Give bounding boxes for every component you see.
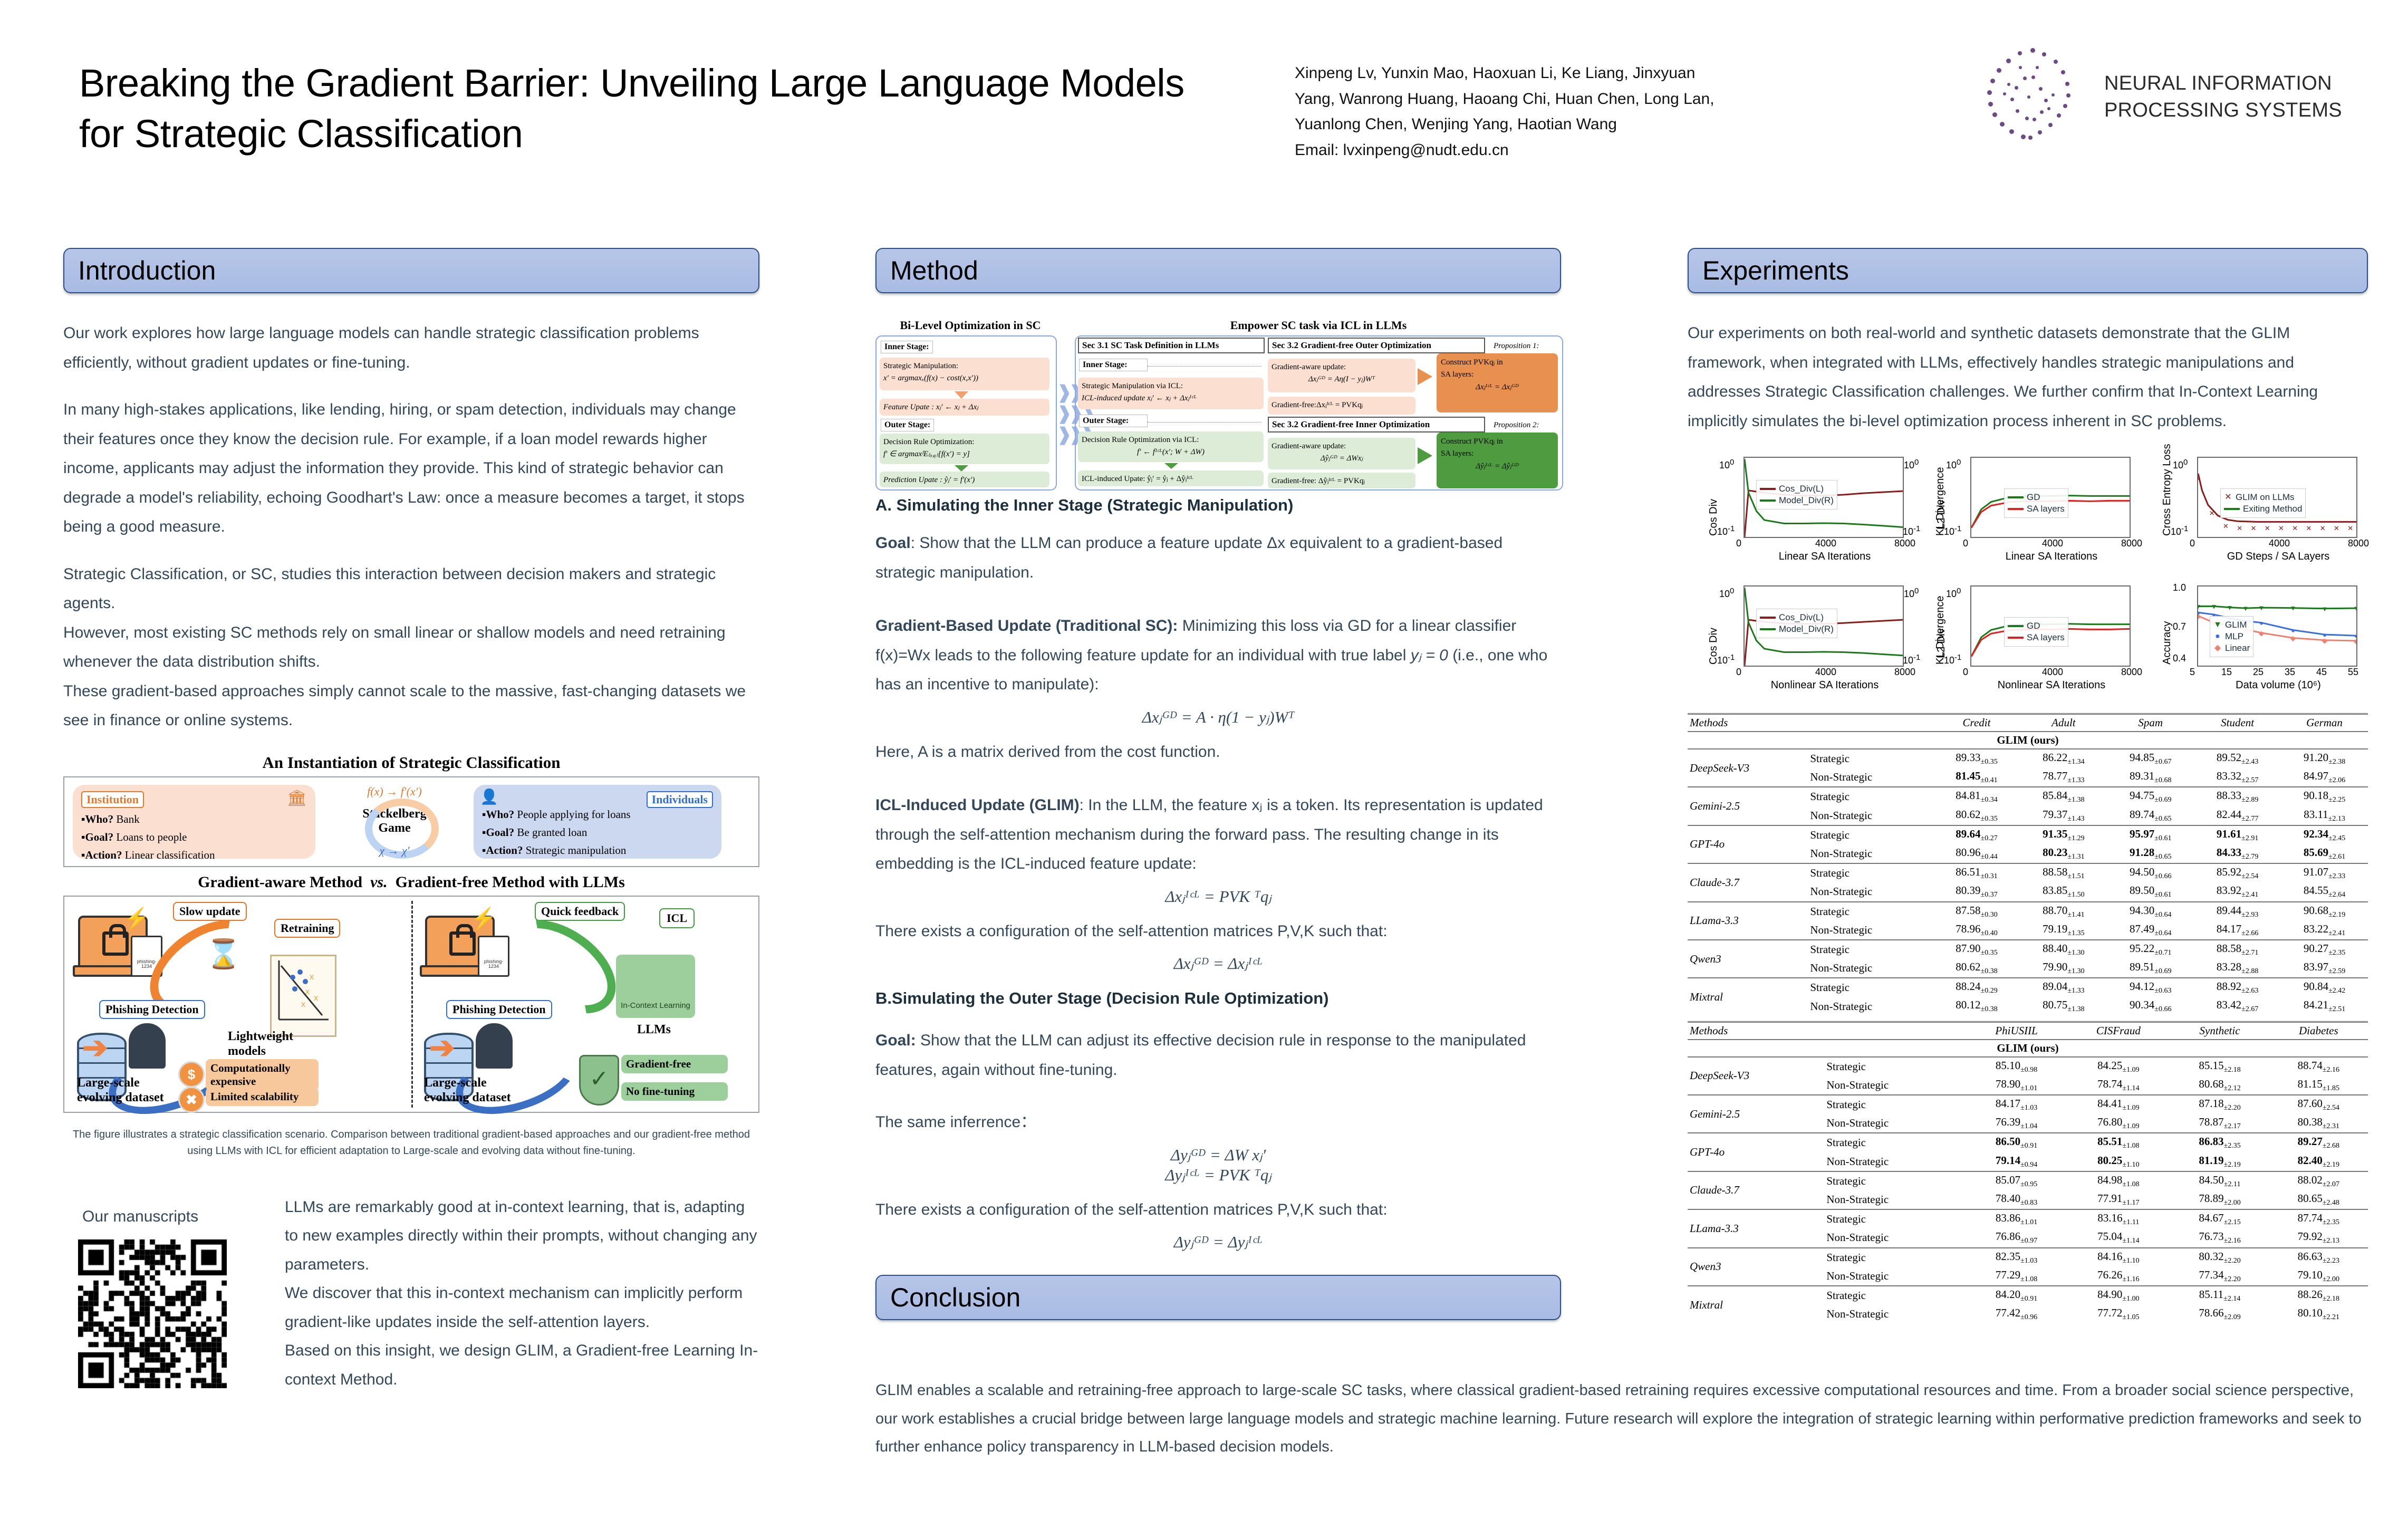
method-a-gradient-based: Gradient-Based Update (Traditional SC): …	[875, 611, 1561, 699]
chart-1-xtick: 0	[1736, 538, 1741, 549]
table-model-name: Claude-3.7	[1688, 863, 1808, 901]
proposition-1-label: Proposition 1:	[1494, 342, 1539, 351]
table-cell: 94.12±0.63	[2107, 978, 2194, 997]
dataset-label-right: Large-scale evolving dataset	[419, 1074, 524, 1108]
lightweight-models-label: Lightweight models	[223, 1027, 317, 1061]
svg-text:✕: ✕	[2237, 524, 2242, 532]
table-cell: 89.44±2.93	[2194, 902, 2281, 921]
phishing-file-right: phishing-1234	[478, 936, 509, 977]
table-cell: 80.96±0.44	[1933, 844, 2020, 863]
retraining-label: Retraining	[274, 919, 340, 938]
table-cell: 89.51±0.69	[2107, 959, 2194, 978]
table-row: DeepSeek-V3Strategic85.10±0.9884.25±1.09…	[1688, 1057, 2368, 1076]
svg-text:▼: ▼	[2322, 605, 2328, 613]
table-row-label: Non-Strategic	[1824, 1228, 1966, 1247]
table-header-cell: Spam	[2107, 714, 2194, 732]
table-cell: 95.97±0.61	[2107, 825, 2194, 844]
authors-line-1: Xinpeng Lv, Yunxin Mao, Haoxuan Li, Ke L…	[1295, 61, 1848, 86]
growth-arrow-right: ➔	[429, 1030, 455, 1065]
table-row-label: Non-Strategic	[1824, 1305, 1966, 1323]
table-cell: 89.27±2.68	[2269, 1133, 2368, 1152]
table-cell: 85.07±0.95	[1967, 1171, 2067, 1190]
table-cell: 84.41±1.09	[2066, 1095, 2170, 1114]
table-model-name: Mixtral	[1688, 1286, 1824, 1323]
table-cell: 84.90±1.00	[2066, 1286, 2170, 1305]
table-model-name: Gemini-2.5	[1688, 787, 1808, 825]
chart-4-xlabel: Nonlinear SA Iterations	[1730, 679, 1920, 691]
chart-2-legend-item: GD	[2008, 492, 2065, 503]
table-cell: 84.21±2.51	[2281, 997, 2368, 1015]
table-row: LLama-3.3Strategic83.86±1.0183.16±1.1184…	[1688, 1209, 2368, 1228]
table-cell: 83.32±2.57	[2194, 768, 2281, 787]
svg-text:◆: ◆	[2198, 612, 2201, 620]
table-header-cell: German	[2281, 714, 2368, 732]
results-table-2: MethodsPhiUSIILCISFraudSyntheticDiabetes…	[1688, 1021, 2368, 1324]
chart-4-xtick: 4000	[1815, 667, 1836, 678]
table-cell: 77.29±1.08	[1967, 1267, 2067, 1286]
chart-3-legend-item: Exiting Method	[2224, 504, 2302, 514]
dash-connector-2	[1148, 422, 1261, 422]
figure-title: An Instantiation of Strategic Classifica…	[63, 753, 759, 772]
equation-gd-update: Δxⱼᴳᴰ = A · η(1 − yⱼ)Wᵀ	[875, 708, 1561, 727]
table-cell: 79.92±2.13	[2269, 1228, 2368, 1247]
individuals-row-1: ▪Who? People applying for loans	[482, 808, 713, 821]
figure-panel-a: Institution 🏛 ▪Who? Bank ▪Goal? Loans to…	[63, 776, 759, 867]
institution-row-1: ▪Who? Bank	[81, 813, 307, 826]
chart-1-xlabel: Linear SA Iterations	[1730, 551, 1920, 563]
table-cell: 77.72±1.05	[2066, 1305, 2170, 1323]
growth-arrow-left: ➔	[82, 1030, 108, 1065]
chart-6-xlabel: Data volume (10⁶)	[2183, 679, 2373, 691]
cycle-bottom-equation: χ → χ′	[321, 844, 468, 858]
diagram-left-title: Bi-Level Optimization in SC	[875, 319, 1065, 332]
chart-3-xtick: 8000	[2348, 538, 2369, 549]
table-row-label: Non-Strategic	[1808, 921, 1933, 940]
person-head-icon: 👤	[480, 788, 498, 806]
table-row-label: Strategic	[1824, 1209, 1966, 1228]
table-cell: 80.62±0.35	[1933, 806, 2020, 825]
dataset-label-left: Large-scale evolving dataset	[72, 1074, 177, 1108]
chart-6-xtick: 15	[2221, 667, 2232, 678]
equation-equal-x: Δxⱼᴳᴰ = Δxⱼᴵᶜᴸ	[875, 954, 1561, 973]
table-cell: 90.27±2.35	[2281, 940, 2368, 959]
chart-2-legend: GDSA layers	[2004, 488, 2068, 518]
chart-6-ylabel: Accuracy	[2161, 621, 2173, 665]
table-cell: 89.52±2.43	[2194, 749, 2281, 768]
table-cell: 91.35±1.29	[2020, 825, 2107, 844]
table-cell: 80.32±2.20	[2170, 1248, 2269, 1267]
equation-equal-y: Δyⱼᴳᴰ = Δyⱼᴵᶜᴸ	[875, 1233, 1561, 1252]
bolt-icon-right: ⚡	[470, 906, 497, 931]
table-cell: 80.65±2.48	[2269, 1190, 2368, 1209]
table-cell: 91.20±2.38	[2281, 749, 2368, 768]
chart-5: KL Divergence 10010-1040008000Nonlinear …	[1925, 577, 2136, 704]
table-cell: 87.90±0.35	[1933, 940, 2020, 959]
inner-gradient-aware-box: Gradient-aware update: Δŷⱼᴳᴰ = ΔWxⱼ	[1268, 438, 1415, 469]
table-row-label: Strategic	[1808, 978, 1933, 997]
table-row-label: Strategic	[1808, 863, 1933, 882]
chart-2-xtick: 0	[1963, 538, 1968, 549]
table-cell: 88.24±0.29	[1933, 978, 2020, 997]
table-header-cell: Synthetic	[2170, 1022, 2269, 1040]
table-cell: 87.60±2.54	[2269, 1095, 2368, 1114]
gradient-based-math: yⱼ = 0	[1411, 647, 1448, 664]
table-cell: 82.44±2.77	[2194, 806, 2281, 825]
table-cell: 85.51±1.08	[2066, 1133, 2170, 1152]
cycle-top-equation: f(x) → f′(x′)	[321, 785, 468, 799]
method-b-exists: There exists a configuration of the self…	[875, 1195, 1561, 1225]
quick-feedback-label: Quick feedback	[535, 902, 625, 921]
chart-4-legend: Cos_Div(L)Model_Div(R)	[1756, 609, 1837, 638]
cost-chip-2: Limited scalability	[206, 1088, 319, 1106]
table-cell: 88.92±2.63	[2194, 978, 2281, 997]
table-model-name: Qwen3	[1688, 1248, 1824, 1286]
section-title-introduction: Introduction	[78, 255, 216, 286]
neurips-dots-icon	[1972, 45, 2094, 158]
table-cell: 81.15±1.85	[2269, 1076, 2368, 1095]
left-feature-update-box: Feature Upate : xⱼ′ ← xⱼ + Δxⱼ	[880, 399, 1049, 416]
table-row: Qwen3Strategic82.35±1.0384.16±1.1080.32±…	[1688, 1248, 2368, 1267]
table-row-label: Strategic	[1808, 825, 1933, 844]
method-diagram: Bi-Level Optimization in SC Empower SC t…	[875, 319, 1561, 493]
chart-3-xtick: 4000	[2269, 538, 2290, 549]
chart-1-xtick: 4000	[1815, 538, 1836, 549]
table-row-label: Strategic	[1808, 749, 1933, 768]
author-block: Xinpeng Lv, Yunxin Mao, Haoxuan Li, Ke L…	[1295, 61, 1848, 163]
table-header-cell: Diabetes	[2269, 1022, 2368, 1040]
icl-update-label: ICL-Induced Update (GLIM)	[875, 796, 1080, 814]
svg-text:▼: ▼	[2227, 604, 2233, 612]
outer-gradient-free-box: Gradient-free:Δxⱼᴵᶜᴸ = PVKqⱼ	[1268, 397, 1415, 415]
left-arrow-1	[955, 391, 968, 399]
institution-row-3: ▪Action? Linear classification	[81, 849, 307, 862]
chart-6-legend-item: ●MLP	[2213, 631, 2250, 642]
method-a-exists: There exists a configuration of the self…	[875, 917, 1561, 946]
chart-5-xtick: 4000	[2042, 667, 2063, 678]
table-row-label: Strategic	[1824, 1057, 1966, 1076]
table-row: Gemini-2.5Strategic84.17±1.0384.41±1.098…	[1688, 1095, 2368, 1114]
svg-text:◆: ◆	[2322, 637, 2327, 645]
left-decision-rule-box: Decision Rule Optimization: f′ ∈ argmaxᶠ…	[880, 434, 1049, 464]
table-header-cell: Student	[2194, 714, 2281, 732]
scatter-svg: xx xx	[272, 956, 332, 1032]
svg-text:▼: ▼	[2290, 604, 2297, 612]
section-header-method: Method	[875, 248, 1561, 293]
table-cell: 85.10±0.98	[1967, 1057, 2067, 1076]
bank-icon: 🏛	[287, 789, 307, 807]
left-prediction-update-box: Prediction Upate : ŷⱼ′ = f′(x′)	[880, 472, 1049, 487]
intro-paragraph-3: Strategic Classification, or SC, studies…	[63, 560, 759, 618]
table-cell: 80.39±0.37	[1933, 882, 2020, 901]
table-row: GPT-4oStrategic89.64±0.2791.35±1.2995.97…	[1688, 825, 2368, 844]
svg-text:✕: ✕	[2347, 524, 2353, 532]
table-group-label: GLIM (ours)	[1688, 1040, 2368, 1057]
chart-3-legend-item: ✕GLIM on LLMs	[2224, 492, 2302, 503]
icl-paragraph-3: Based on this insight, we design GLIM, a…	[285, 1337, 759, 1394]
table-cell: 91.28±0.65	[2107, 844, 2194, 863]
outer-arrow-right	[1418, 368, 1432, 385]
table-row-label: Strategic	[1824, 1171, 1966, 1190]
table-cell: 94.30±0.64	[2107, 902, 2194, 921]
table-cell: 84.55±2.64	[2281, 882, 2368, 901]
table-cell: 75.04±1.14	[2066, 1228, 2170, 1247]
logo-text: NEURAL INFORMATION PROCESSING SYSTEMS	[2104, 70, 2342, 123]
individuals-row-3: ▪Action? Strategic manipulation	[482, 844, 713, 857]
table-cell: 83.85±1.50	[2020, 882, 2107, 901]
table-cell: 81.19±2.19	[2170, 1152, 2269, 1171]
intro-paragraph-5: These gradient-based approaches simply c…	[63, 677, 759, 735]
table-cell: 84.17±2.66	[2194, 921, 2281, 940]
section-title-method: Method	[890, 255, 978, 286]
intro-paragraph-2: In many high-stakes applications, like l…	[63, 395, 759, 542]
manuscripts-left: Our manuscripts	[63, 1180, 285, 1395]
chart-6-legend-item: ◆Linear	[2213, 643, 2250, 653]
column-introduction: Introduction Our work explores how large…	[63, 248, 759, 1395]
table-row: DeepSeek-V3Strategic89.33±0.3586.22±1.34…	[1688, 749, 2368, 768]
table-row: LLama-3.3Strategic87.58±0.3088.70±1.4194…	[1688, 902, 2368, 921]
individuals-box: 👤 Individuals ▪Who? People applying for …	[474, 785, 721, 859]
chart-6-xtick: 5	[2190, 667, 2195, 678]
outer-gradient-aware-box: Gradient-aware update: Δxⱼᴳᴰ = Aη(I − yⱼ…	[1268, 359, 1415, 392]
chart-2-xtick: 4000	[2042, 538, 2063, 549]
table-cell: 87.18±2.20	[2170, 1095, 2269, 1114]
table-row: Claude-3.7Strategic85.07±0.9584.98±1.088…	[1688, 1171, 2368, 1190]
icl-paragraph-2: We discover that this in-context mechani…	[285, 1279, 759, 1337]
table-cell: 79.37±1.43	[2020, 806, 2107, 825]
method-b-goal: Goal: Show that the LLM can adjust its e…	[875, 1026, 1561, 1084]
table-cell: 83.22±2.41	[2281, 921, 2368, 940]
svg-text:▼: ▼	[2353, 604, 2356, 612]
chart-4-xtick: 0	[1736, 667, 1741, 678]
table-cell: 84.81±0.34	[1933, 787, 2020, 806]
table-cell: 90.84±2.42	[2281, 978, 2368, 997]
table-cell: 84.25±1.09	[2066, 1057, 2170, 1076]
table-header-cell: Credit	[1933, 714, 2020, 732]
cost-icon: $	[178, 1061, 205, 1088]
table-cell: 94.85±0.67	[2107, 749, 2194, 768]
table-row: Claude-3.7Strategic86.51±0.3188.58±1.519…	[1688, 863, 2368, 882]
manuscripts-block: Our manuscripts LLMs are remarkably good…	[63, 1180, 759, 1395]
individuals-row-2: ▪Goal? Be granted loan	[482, 826, 713, 839]
table-row: MixtralStrategic84.20±0.9184.90±1.0085.1…	[1688, 1286, 2368, 1305]
table-cell: 79.90±1.30	[2020, 959, 2107, 978]
chart-6-xtick: 55	[2348, 667, 2358, 678]
table-cell: 91.07±2.33	[2281, 863, 2368, 882]
chart-4-legend-item: Cos_Div(L)	[1760, 612, 1834, 623]
table-row-label: Non-Strategic	[1808, 959, 1933, 978]
table-cell: 89.31±0.68	[2107, 768, 2194, 787]
intro-body-2: Strategic Classification, or SC, studies…	[63, 560, 759, 735]
inner-gradient-free-box: Gradient-free: Δŷⱼᴵᶜᴸ = PVKqⱼ	[1268, 473, 1415, 488]
section-title-conclusion: Conclusion	[890, 1282, 1020, 1313]
table-header-methods: Methods	[1688, 714, 1933, 732]
svg-text:x: x	[301, 1000, 305, 1009]
chart-2-legend-item: SA layers	[2008, 504, 2065, 514]
table-cell: 76.80±1.09	[2066, 1114, 2170, 1133]
table-cell: 82.35±1.03	[1967, 1248, 2067, 1267]
dash-connector-1	[1148, 366, 1261, 367]
chart-6-legend: ▼GLIM●MLP◆Linear	[2210, 616, 2253, 657]
slow-update-label: Slow update	[173, 902, 247, 921]
table-row-label: Strategic	[1824, 1133, 1966, 1152]
table-cell: 84.97±2.06	[2281, 768, 2368, 787]
table-cell: 90.18±2.25	[2281, 787, 2368, 806]
goal-text-a: : Show that the LLM can produce a featur…	[875, 534, 1502, 581]
table-cell: 86.22±1.34	[2020, 749, 2107, 768]
table-cell: 89.50±0.61	[2107, 882, 2194, 901]
mid-outer-stage-label: Outer Stage:	[1079, 415, 1148, 427]
sec31-header: Sec 3.1 SC Task Definition in LLMs	[1078, 338, 1265, 353]
table-row-label: Non-Strategic	[1824, 1267, 1966, 1286]
hourglass-icon: ⌛	[206, 939, 227, 973]
bolt-icon-left: ⚡	[123, 906, 150, 931]
svg-text:▼: ▼	[2258, 604, 2265, 612]
left-inner-stage-label: Inner Stage:	[881, 341, 933, 353]
table-row-label: Non-Strategic	[1808, 768, 1933, 787]
chart-1-xtick: 8000	[1894, 538, 1915, 549]
table-cell: 80.38±2.31	[2269, 1114, 2368, 1133]
chart-6-legend-item: ▼GLIM	[2213, 620, 2250, 630]
chart-6-xtick: 35	[2285, 667, 2295, 678]
table-cell: 76.86±0.97	[1967, 1228, 2067, 1247]
table-cell: 76.73±2.16	[2170, 1228, 2269, 1247]
table-cell: 87.58±0.30	[1933, 902, 2020, 921]
chart-6-xtick: 25	[2253, 667, 2263, 678]
table-model-name: GPT-4o	[1688, 825, 1808, 863]
left-strategic-manipulation-box: Strategic Manipulation: x′ = argmaxₓ(f(x…	[880, 358, 1049, 390]
svg-text:x: x	[305, 987, 310, 996]
table-cell: 79.10±2.00	[2269, 1267, 2368, 1286]
table-cell: 85.15±2.18	[2170, 1057, 2269, 1076]
poster-header: Breaking the Gradient Barrier: Unveiling…	[0, 0, 2408, 222]
conclusion-text: GLIM enables a scalable and retraining-f…	[875, 1377, 2368, 1462]
experiments-intro: Our experiments on both real-world and s…	[1688, 319, 2368, 436]
method-a-heading: A. Simulating the Inner Stage (Strategic…	[875, 496, 1561, 515]
table-model-name: Gemini-2.5	[1688, 1095, 1824, 1133]
table-row-label: Non-Strategic	[1808, 806, 1933, 825]
method-a-here: Here, A is a matrix derived from the cos…	[875, 737, 1561, 767]
icl-paragraph-1: LLMs are remarkably good at in-context l…	[285, 1193, 759, 1280]
chart-5-xlabel: Nonlinear SA Iterations	[1957, 679, 2146, 691]
method-b-heading: B.Simulating the Outer Stage (Decision R…	[875, 989, 1561, 1008]
table-cell: 83.42±2.67	[2194, 997, 2281, 1015]
chart-5-legend: GDSA layers	[2004, 617, 2068, 647]
manuscripts-label: Our manuscripts	[82, 1208, 285, 1226]
chart-5-xtick: 8000	[2121, 667, 2142, 678]
table-cell: 94.75±0.69	[2107, 787, 2194, 806]
table-cell: 79.19±1.35	[2020, 921, 2107, 940]
svg-text:✕: ✕	[2320, 524, 2326, 532]
table-cell: 77.91±1.17	[2066, 1190, 2170, 1209]
table-cell: 91.61±2.91	[2194, 825, 2281, 844]
table-cell: 88.58±2.71	[2194, 940, 2281, 959]
svg-text:▼: ▼	[2242, 604, 2249, 612]
gradient-free-half: ⚡ phishing-1234 Quick feedback ICL Phish…	[411, 897, 758, 1112]
table-cell: 83.16±1.11	[2066, 1209, 2170, 1228]
table-row-label: Non-Strategic	[1824, 1076, 1966, 1095]
shield-check-icon: ✓	[579, 1055, 619, 1105]
table-cell: 78.66±2.09	[2170, 1305, 2269, 1323]
table-model-name: LLama-3.3	[1688, 1209, 1824, 1247]
poster-root: Breaking the Gradient Barrier: Unveiling…	[0, 0, 2408, 1519]
table-row-label: Strategic	[1824, 1248, 1966, 1267]
authors-line-3: Yuanlong Chen, Wenjing Yang, Haotian Wan…	[1295, 112, 1848, 138]
table-model-name: GPT-4o	[1688, 1133, 1824, 1171]
table-cell: 80.12±0.38	[1933, 997, 2020, 1015]
table-model-name: DeepSeek-V3	[1688, 749, 1808, 787]
table-model-name: Claude-3.7	[1688, 1171, 1824, 1209]
svg-text:●: ●	[2259, 619, 2263, 627]
table-cell: 90.68±2.19	[2281, 902, 2368, 921]
table-header-methods: Methods	[1688, 1022, 1967, 1040]
table-cell: 83.97±2.59	[2281, 959, 2368, 978]
table-cell: 86.63±2.23	[2269, 1248, 2368, 1267]
svg-text:◆: ◆	[2290, 634, 2296, 642]
chart-1-legend-item: Model_Div(R)	[1760, 495, 1834, 506]
svg-text:◆: ◆	[2354, 637, 2356, 645]
intro-body: Our work explores how large language mod…	[63, 319, 759, 542]
chart-1: Cos Div 10010-110010-1L2 Div040008000Lin…	[1698, 448, 1909, 575]
section-header-experiments: Experiments	[1688, 248, 2368, 293]
table-cell: 76.26±1.16	[2066, 1267, 2170, 1286]
mid-icl-decision-box: Decision Rule Optimization via ICL: f′ ←…	[1078, 431, 1264, 462]
chart-4: Cos Div 10010-110010-1L2 Div040008000Non…	[1698, 577, 1909, 704]
table-cell: 84.50±2.11	[2170, 1171, 2269, 1190]
inner-arrow-right	[1418, 447, 1432, 464]
mid-inner-stage-label: Inner Stage:	[1079, 359, 1148, 371]
svg-text:✕: ✕	[2198, 475, 2201, 483]
svg-text:✕: ✕	[2223, 522, 2229, 530]
table-cell: 88.58±1.51	[2020, 863, 2107, 882]
figure-caption: The figure illustrates a strategic class…	[63, 1127, 759, 1159]
results-table-1: MethodsCreditAdultSpamStudentGermanGLIM …	[1688, 713, 2368, 1016]
table-model-name: LLama-3.3	[1688, 902, 1808, 940]
table-cell: 83.86±1.01	[1967, 1209, 2067, 1228]
table-row-label: Non-Strategic	[1824, 1114, 1966, 1133]
table-row-label: Non-Strategic	[1808, 882, 1933, 901]
table-cell: 79.14±0.94	[1967, 1152, 2067, 1171]
table-cell: 76.39±1.04	[1967, 1114, 2067, 1133]
table-cell: 78.40±0.83	[1967, 1190, 2067, 1209]
table-cell: 83.92±2.41	[2194, 882, 2281, 901]
chart-4-legend-item: Model_Div(R)	[1760, 624, 1834, 634]
proposition-2-box: Construct PVKqⱼ in SA layers: Δŷⱼᴵᶜᴸ = Δ…	[1437, 432, 1558, 488]
table-cell: 88.74±2.16	[2269, 1057, 2368, 1076]
method-a-icl: ICL-Induced Update (GLIM): In the LLM, t…	[875, 791, 1561, 879]
table-model-name: Mixtral	[1688, 978, 1808, 1015]
table-row: GPT-4oStrategic86.50±0.9185.51±1.0886.83…	[1688, 1133, 2368, 1152]
proposition-1-box: Construct PVKqⱼ in SA layers: Δxⱼᴵᶜᴸ = Δ…	[1437, 353, 1558, 412]
qr-code[interactable]	[78, 1239, 227, 1388]
chart-1-legend: Cos_Div(L)Model_Div(R)	[1756, 480, 1837, 509]
stackelberg-cycle: f(x) → f′(x′) Stackelberg Game χ → χ′	[321, 785, 468, 859]
table-cell: 84.67±2.15	[2170, 1209, 2269, 1228]
column-experiments: Experiments Our experiments on both real…	[1688, 248, 2368, 1323]
table-cell: 82.40±2.19	[2269, 1152, 2368, 1171]
chart-3-ylabel: Cross Entropy Loss	[2161, 444, 2173, 536]
left-arrow-2	[955, 465, 968, 472]
scatter-plot-icon: xx xx	[270, 955, 336, 1037]
chart-6-xtick: 45	[2316, 667, 2327, 678]
diagram-right-title: Empower SC task via ICL in LLMs	[1076, 319, 1561, 332]
individuals-tag: Individuals	[647, 791, 713, 808]
table-cell: 80.75±1.38	[2020, 997, 2107, 1015]
logo-line-2: PROCESSING SYSTEMS	[2104, 97, 2342, 124]
svg-text:✕: ✕	[2292, 524, 2298, 532]
table-cell: 88.33±2.89	[2194, 787, 2281, 806]
table-cell: 90.34±0.66	[2107, 997, 2194, 1015]
svg-text:✕: ✕	[2334, 524, 2339, 532]
